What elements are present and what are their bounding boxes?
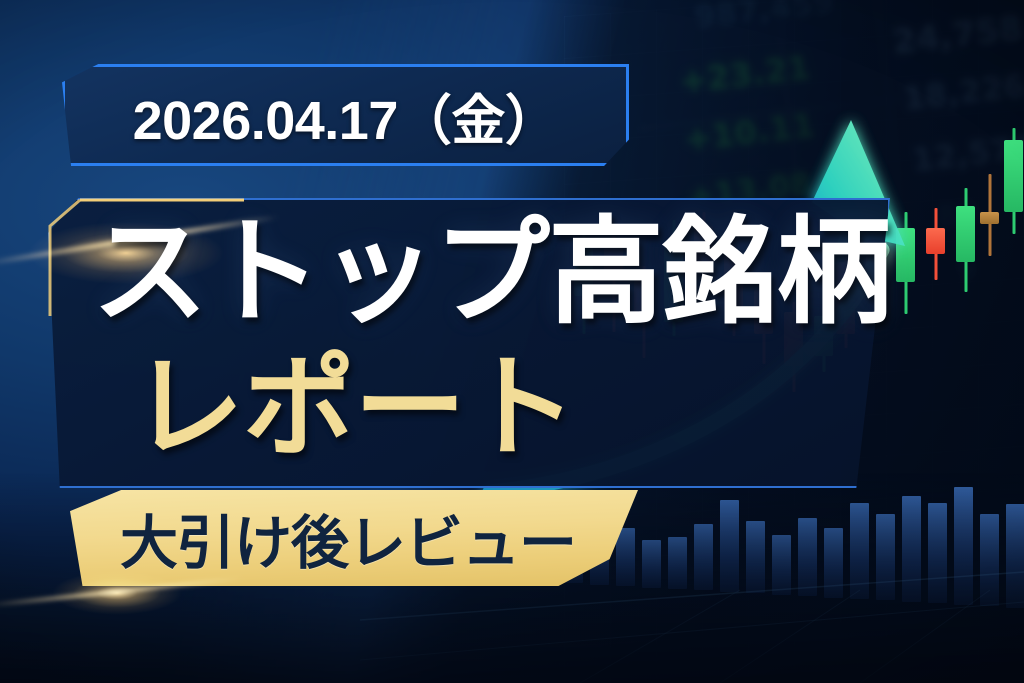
date-text: 2026.04.17（金）	[133, 76, 559, 155]
banner-canvas: 987,45963,45924,758+23.2118,226+10.1112,…	[0, 0, 1024, 683]
subtitle-ribbon-text: 大引け後レビュー	[64, 490, 632, 586]
title-line-2: レポート	[132, 352, 576, 464]
date-badge: 2026.04.17（金）	[62, 64, 629, 166]
title-line-1: ストップ高銘柄	[92, 214, 890, 330]
